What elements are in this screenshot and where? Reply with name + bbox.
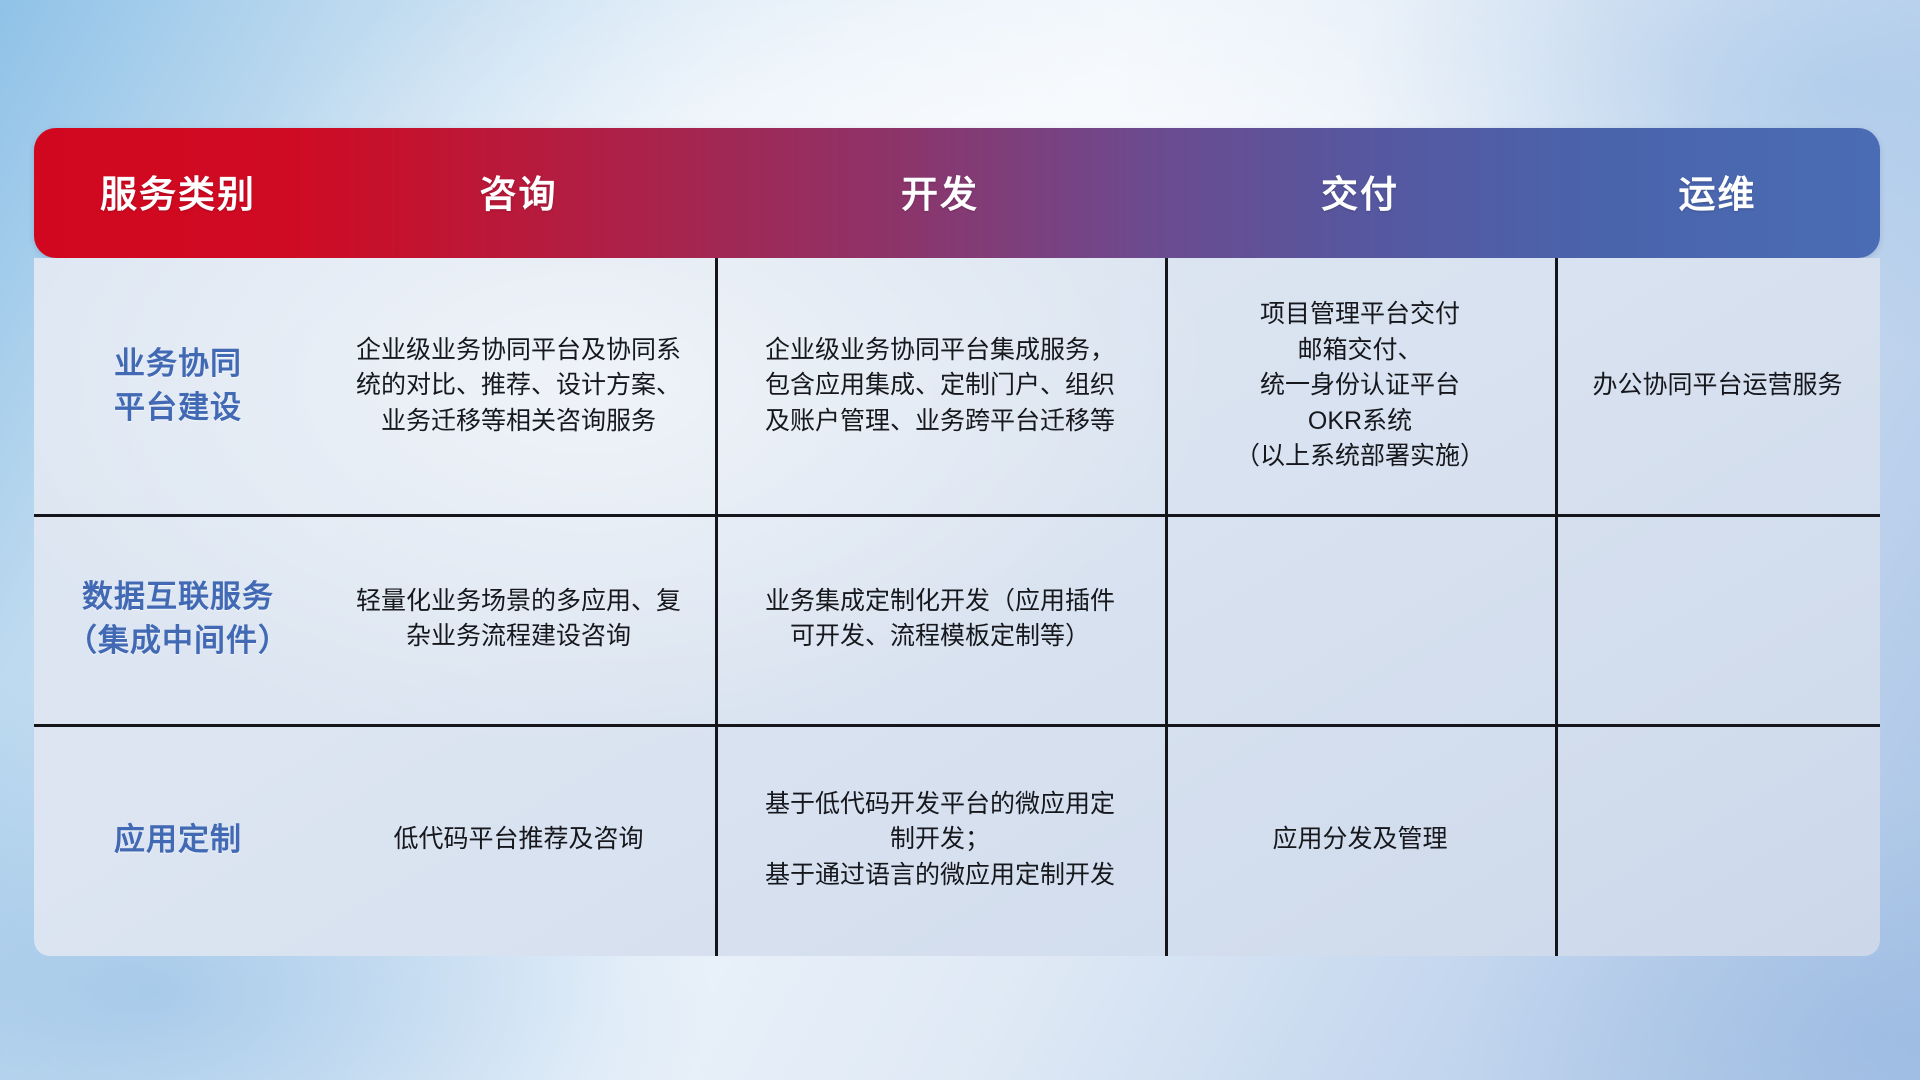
row-1-consulting-text: 企业级业务协同平台及协同系 统的对比、推荐、设计方案、 业务迁移等相关咨询服务 [356, 333, 681, 440]
column-header-delivery-label: 交付 [1321, 164, 1399, 218]
column-header-development: 开发 [715, 128, 1165, 258]
row-3-development-text: 基于低代码开发平台的微应用定 制开发； 基于通过语言的微应用定制开发 [765, 787, 1115, 894]
row-2-operations-cell [1555, 514, 1880, 724]
column-header-category: 服务类别 [34, 128, 322, 258]
service-matrix-table: 服务类别 咨询 开发 交付 运维 业务协同 平台建设 企业级业务协同平台 [34, 128, 1880, 956]
table-body: 业务协同 平台建设 企业级业务协同平台及协同系 统的对比、推荐、设计方案、 业务… [34, 258, 1880, 956]
row-3-operations-cell [1555, 724, 1880, 956]
table-header-row: 服务类别 咨询 开发 交付 运维 [34, 128, 1880, 258]
column-header-development-label: 开发 [901, 164, 979, 218]
column-header-consulting: 咨询 [322, 128, 715, 258]
row-1-operations-text: 办公协同平台运营服务 [1592, 368, 1842, 404]
row-1-operations-cell: 办公协同平台运营服务 [1555, 258, 1880, 514]
row-3-category-cell: 应用定制 [34, 724, 322, 956]
row-2-consulting-text: 轻量化业务场景的多应用、复 杂业务流程建设咨询 [356, 584, 681, 655]
table-row: 应用定制 低代码平台推荐及咨询 基于低代码开发平台的微应用定 制开发； 基于通过… [34, 724, 1880, 956]
row-1-delivery-cell: 项目管理平台交付 邮箱交付、 统一身份认证平台 OKR系统 （以上系统部署实施） [1165, 258, 1555, 514]
row-1-delivery-text: 项目管理平台交付 邮箱交付、 统一身份认证平台 OKR系统 （以上系统部署实施） [1235, 297, 1485, 475]
column-header-delivery: 交付 [1165, 128, 1555, 258]
table-row: 业务协同 平台建设 企业级业务协同平台及协同系 统的对比、推荐、设计方案、 业务… [34, 258, 1880, 514]
row-1-category-cell: 业务协同 平台建设 [34, 258, 322, 514]
row-1-category-text: 业务协同 平台建设 [114, 342, 242, 430]
column-header-operations: 运维 [1555, 128, 1880, 258]
row-1-consulting-cell: 企业级业务协同平台及协同系 统的对比、推荐、设计方案、 业务迁移等相关咨询服务 [322, 258, 715, 514]
row-3-category-text: 应用定制 [114, 818, 242, 862]
row-2-consulting-cell: 轻量化业务场景的多应用、复 杂业务流程建设咨询 [322, 514, 715, 724]
row-2-delivery-cell [1165, 514, 1555, 724]
row-3-consulting-text: 低代码平台推荐及咨询 [393, 822, 643, 858]
table-row: 数据互联服务 （集成中间件） 轻量化业务场景的多应用、复 杂业务流程建设咨询 业… [34, 514, 1880, 724]
row-3-delivery-text: 应用分发及管理 [1272, 822, 1447, 858]
row-3-delivery-cell: 应用分发及管理 [1165, 724, 1555, 956]
row-2-category-text: 数据互联服务 （集成中间件） [66, 575, 290, 663]
row-1-development-text: 企业级业务协同平台集成服务， 包含应用集成、定制门户、组织 及账户管理、业务跨平… [765, 333, 1115, 440]
column-header-operations-label: 运维 [1679, 164, 1757, 218]
row-2-development-cell: 业务集成定制化开发（应用插件 可开发、流程模板定制等） [715, 514, 1165, 724]
row-3-consulting-cell: 低代码平台推荐及咨询 [322, 724, 715, 956]
row-1-development-cell: 企业级业务协同平台集成服务， 包含应用集成、定制门户、组织 及账户管理、业务跨平… [715, 258, 1165, 514]
row-2-category-cell: 数据互联服务 （集成中间件） [34, 514, 322, 724]
row-3-development-cell: 基于低代码开发平台的微应用定 制开发； 基于通过语言的微应用定制开发 [715, 724, 1165, 956]
column-header-consulting-label: 咨询 [480, 164, 558, 218]
row-2-development-text: 业务集成定制化开发（应用插件 可开发、流程模板定制等） [765, 584, 1115, 655]
column-header-category-label: 服务类别 [100, 164, 256, 218]
